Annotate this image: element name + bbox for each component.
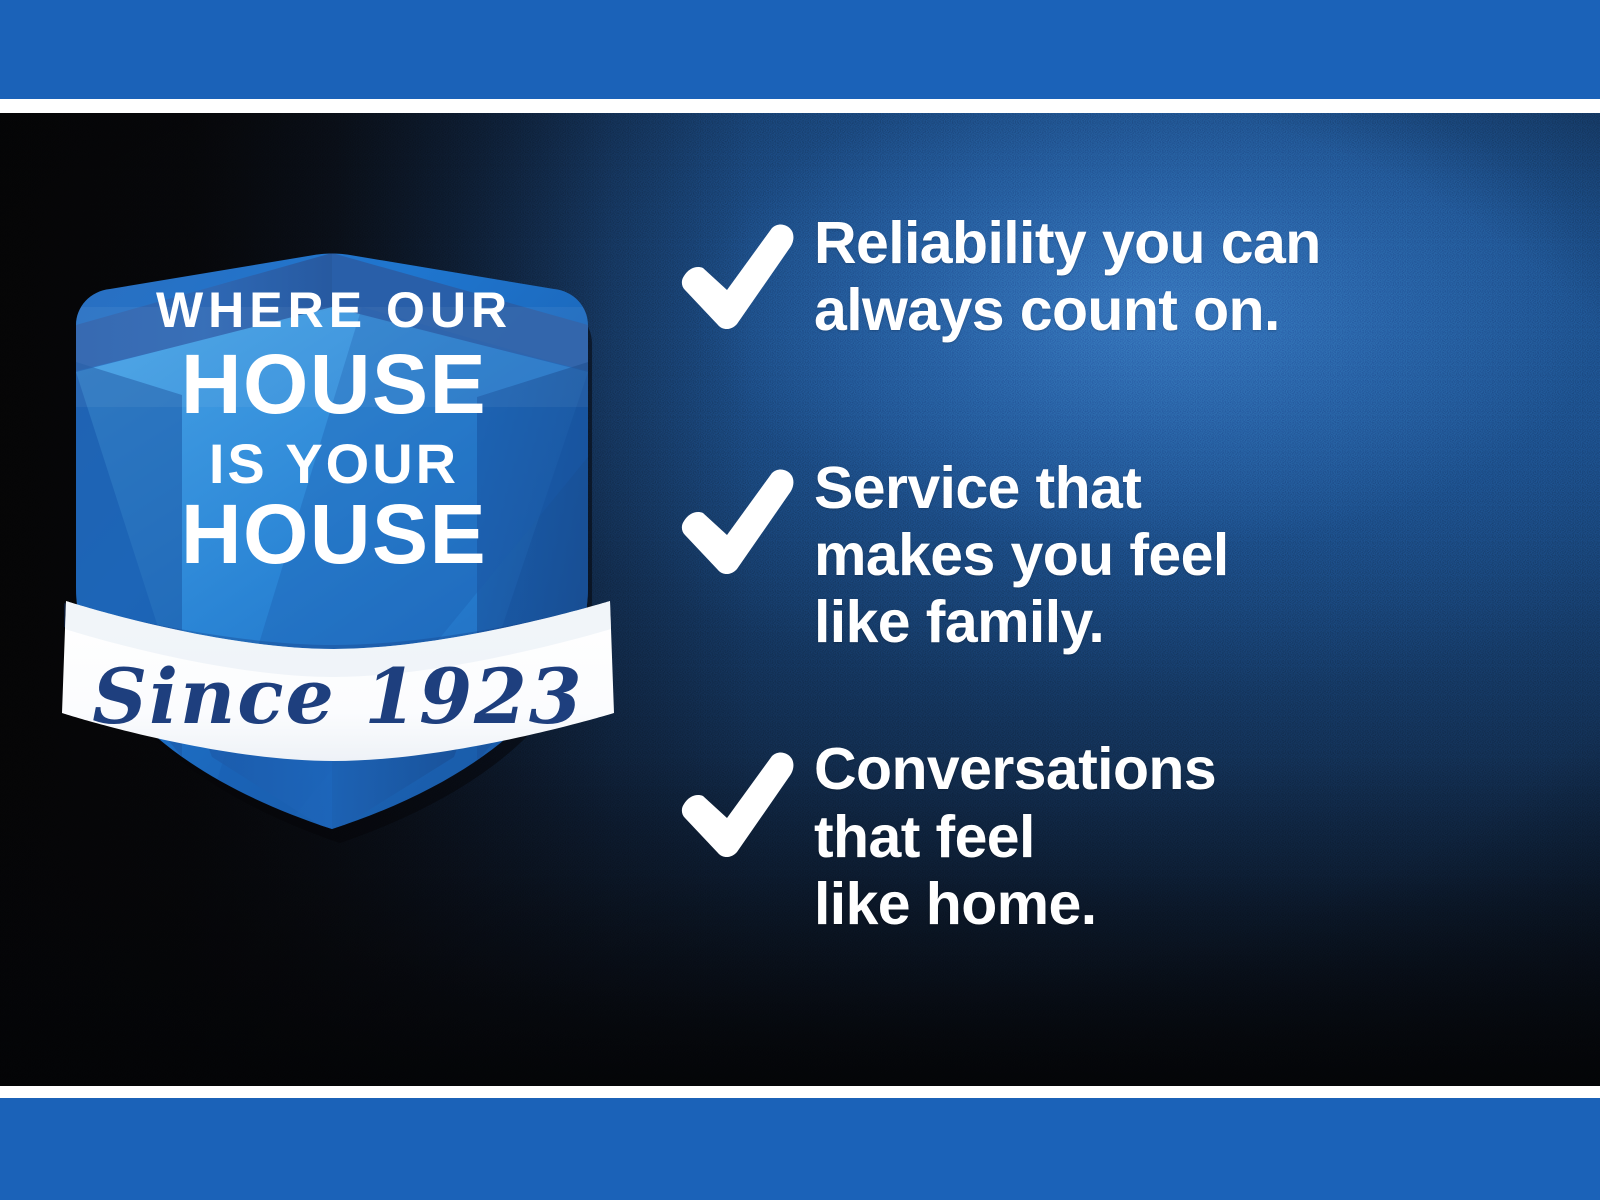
promo-graphic: WHERE OUR HOUSE IS YOUR HOUSE Since 1923…	[0, 0, 1600, 1200]
check-icon	[672, 748, 800, 860]
list-item-text: Service that makes you feel like family.	[814, 441, 1229, 657]
check-icon	[672, 220, 800, 332]
list-item: Conversations that feel like home.	[672, 722, 1492, 938]
top-white-divider	[0, 99, 1600, 113]
logo-line-3: IS YOUR	[209, 432, 459, 495]
list-item-text: Conversations that feel like home.	[814, 722, 1216, 938]
top-brand-bar	[0, 0, 1600, 99]
list-item-text: Reliability you can always count on.	[814, 196, 1321, 345]
list-item: Reliability you can always count on.	[672, 196, 1492, 345]
logo-line-2: HOUSE	[181, 337, 487, 431]
check-icon	[672, 465, 800, 577]
bottom-brand-bar	[0, 1098, 1600, 1200]
ribbon-script-text: Since 1923	[92, 652, 584, 741]
benefits-list: Reliability you can always count on. Ser…	[672, 196, 1492, 938]
bottom-white-divider	[0, 1086, 1600, 1098]
logo-line-4: HOUSE	[181, 487, 487, 581]
brand-logo: WHERE OUR HOUSE IS YOUR HOUSE Since 1923	[62, 157, 622, 837]
logo-line-1: WHERE OUR	[156, 282, 512, 338]
list-item: Service that makes you feel like family.	[672, 441, 1492, 657]
